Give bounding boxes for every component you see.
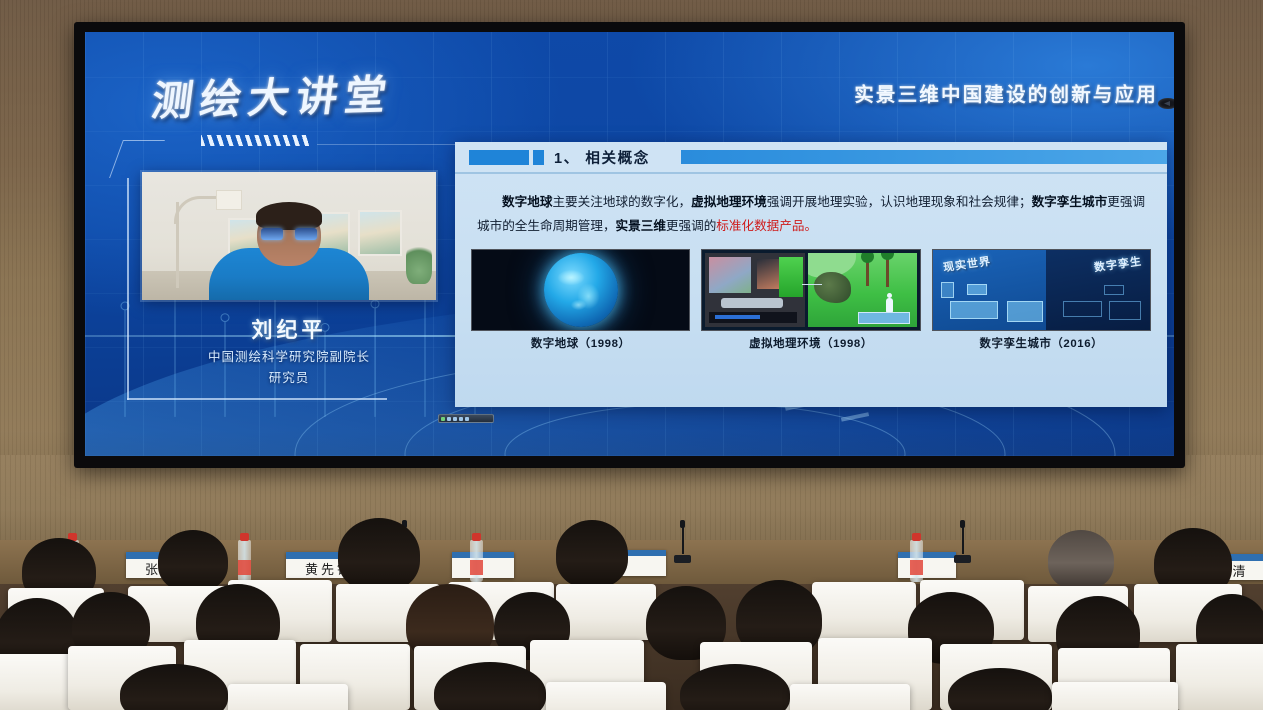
speaker-glasses <box>261 228 317 240</box>
term-real-3d: 实景三维 <box>616 219 666 233</box>
figure-caption-3: 数字孪生城市（2016） <box>932 335 1151 351</box>
digital-twin-image: 现实世界 数字孪生 <box>932 249 1151 331</box>
audience-head-r1-5 <box>1048 530 1114 590</box>
lab-side-screen <box>757 259 779 289</box>
chair-r1-7 <box>812 582 916 640</box>
header-divider <box>455 172 1167 174</box>
speaker-video-feed[interactable] <box>142 172 436 300</box>
toolbar-pen-icon[interactable] <box>447 417 451 421</box>
twin-machine-3 <box>1104 285 1124 295</box>
water-bottle-4 <box>910 540 923 582</box>
header-accent-bar <box>681 150 1167 164</box>
factory-machine-3 <box>967 284 987 295</box>
microphone-2 <box>680 524 685 558</box>
panel-connector <box>802 284 822 285</box>
chair-r2-11 <box>1176 644 1263 710</box>
digital-earth-image <box>471 249 690 331</box>
toolbar-more-icon[interactable] <box>465 417 469 421</box>
slide-content-card: 1、 相关概念 数字地球主要关注地球的数字化，虚拟地理环境强调开展地理实验，认识… <box>455 142 1167 407</box>
twin-machine-1 <box>1063 301 1102 317</box>
led-display-wall[interactable]: 测绘大讲堂 实景三维中国建设的创新与应用 <box>74 22 1185 468</box>
figure-digital-earth: 数字地球（1998） <box>471 249 690 351</box>
factory-machine-2 <box>1007 301 1044 322</box>
terrain-tree-1 <box>866 260 869 286</box>
toolbar-slides-icon[interactable] <box>453 417 457 421</box>
lab-table <box>721 298 783 308</box>
header-accent-block-small <box>533 150 544 165</box>
floor-lamp-shade <box>216 190 242 210</box>
terrain-rock <box>814 272 851 303</box>
header-accent-block-large <box>469 150 529 165</box>
audience-head-r1-2 <box>158 530 228 592</box>
globe-graphic <box>544 253 618 327</box>
para-seg-4: 强调开展地理实验，认识地理现象和社会规律； <box>767 195 1032 209</box>
chair-r3-3 <box>790 684 910 710</box>
nameplate-6 <box>898 552 956 578</box>
chair-r3-4 <box>1052 682 1178 710</box>
vge-terrain-panel <box>808 253 917 327</box>
term-digital-twin-city: 数字孪生城市 <box>1032 195 1108 209</box>
lab-console-strip <box>709 312 796 322</box>
toolbar-pointer-icon[interactable] <box>441 417 445 421</box>
hatch-decoration <box>201 135 309 146</box>
chair-r3-2 <box>546 682 666 710</box>
microphone-3 <box>960 524 965 558</box>
section-header: 1、 相关概念 <box>455 142 1167 172</box>
figure-caption-2: 虚拟地理环境（1998） <box>701 335 920 351</box>
speaker-title-line1: 中国测绘科学研究院副院长 <box>142 349 436 365</box>
terrain-label-tag <box>858 312 910 324</box>
para-seg-2: 主要关注地球的数字化， <box>552 195 691 209</box>
lab-wall-screen <box>709 257 751 293</box>
digital-twin-scene: 现实世界 数字孪生 <box>933 250 1150 330</box>
frame-line-bottom <box>127 398 387 400</box>
presentation-toolbar[interactable] <box>438 414 494 423</box>
nameplate-4 <box>452 552 514 578</box>
figure-caption-1: 数字地球（1998） <box>471 335 690 351</box>
term-vge: 虚拟地理环境 <box>691 195 767 209</box>
speaker-hair <box>256 202 322 230</box>
speaker-name: 刘纪平 <box>142 314 436 344</box>
lab-green-screen <box>779 257 803 297</box>
presentation-screen[interactable]: 测绘大讲堂 实景三维中国建设的创新与应用 <box>85 32 1174 456</box>
page-title: 实景三维中国建设的创新与应用 <box>854 78 1158 107</box>
section-heading: 1、 相关概念 <box>554 147 650 168</box>
frame-line-left <box>127 178 129 400</box>
brand-title: 测绘大讲堂 <box>149 61 398 128</box>
para-seg-8: 更强调的 <box>666 219 716 233</box>
water-bottle-2 <box>238 540 251 582</box>
wall-art-3 <box>358 210 402 256</box>
speaker-title-line2: 研究员 <box>142 370 436 386</box>
vge-image <box>701 249 920 331</box>
vge-panels <box>702 250 919 330</box>
figure-digital-twin: 现实世界 数字孪生 数字孪生城市（2016） <box>932 249 1151 351</box>
conference-room: 测绘大讲堂 实景三维中国建设的创新与应用 <box>0 0 1263 710</box>
audience-area: 张雪萍 黄先锋 杜 清 <box>0 468 1263 710</box>
chair-r1-6 <box>556 584 656 640</box>
speaker-info: 刘纪平 中国测绘科学研究院副院长 研究员 <box>142 314 436 386</box>
floor-lamp-pole <box>176 202 179 288</box>
screen-camera-icon <box>1158 98 1174 109</box>
figure-row: 数字地球（1998） <box>471 249 1151 351</box>
figure-vge: 虚拟地理环境（1998） <box>701 249 920 351</box>
audience-head-r1-3 <box>338 518 420 592</box>
potted-plant <box>406 240 432 284</box>
chair-r3-1 <box>228 684 348 710</box>
water-bottle-3 <box>470 540 483 582</box>
twin-machine-2 <box>1109 301 1142 320</box>
factory-machine-1 <box>950 301 998 319</box>
factory-arm <box>941 282 954 298</box>
toolbar-zoom-icon[interactable] <box>459 417 463 421</box>
vge-lab-panel <box>705 253 804 327</box>
concept-paragraph: 数字地球主要关注地球的数字化，虚拟地理环境强调开展地理实验，认识地理现象和社会规… <box>477 190 1145 238</box>
term-digital-earth: 数字地球 <box>502 195 552 209</box>
terrain-tree-2 <box>886 257 889 287</box>
audience-head-r1-4 <box>556 520 628 588</box>
para-highlight: 标准化数据产品。 <box>716 219 817 233</box>
